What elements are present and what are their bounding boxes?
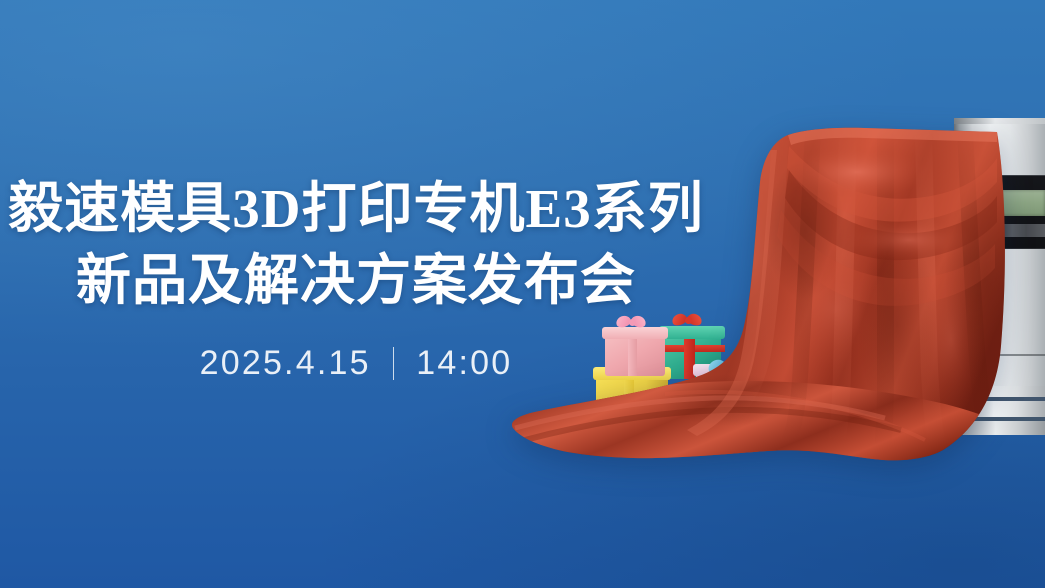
event-date: 2025.4.15 — [200, 343, 371, 383]
headline-block: 毅速模具3D打印专机E3系列 新品及解决方案发布会 — [0, 173, 712, 317]
headline-line-2: 新品及解决方案发布会 — [0, 245, 712, 317]
event-time: 14:00 — [416, 343, 512, 383]
schedule-separator — [393, 347, 395, 380]
headline-line-1: 毅速模具3D打印专机E3系列 — [0, 173, 712, 245]
event-schedule: 2025.4.15 14:00 — [0, 343, 712, 383]
event-banner: 毅速模具3D打印专机E3系列 新品及解决方案发布会 2025.4.15 14:0… — [0, 0, 1045, 588]
